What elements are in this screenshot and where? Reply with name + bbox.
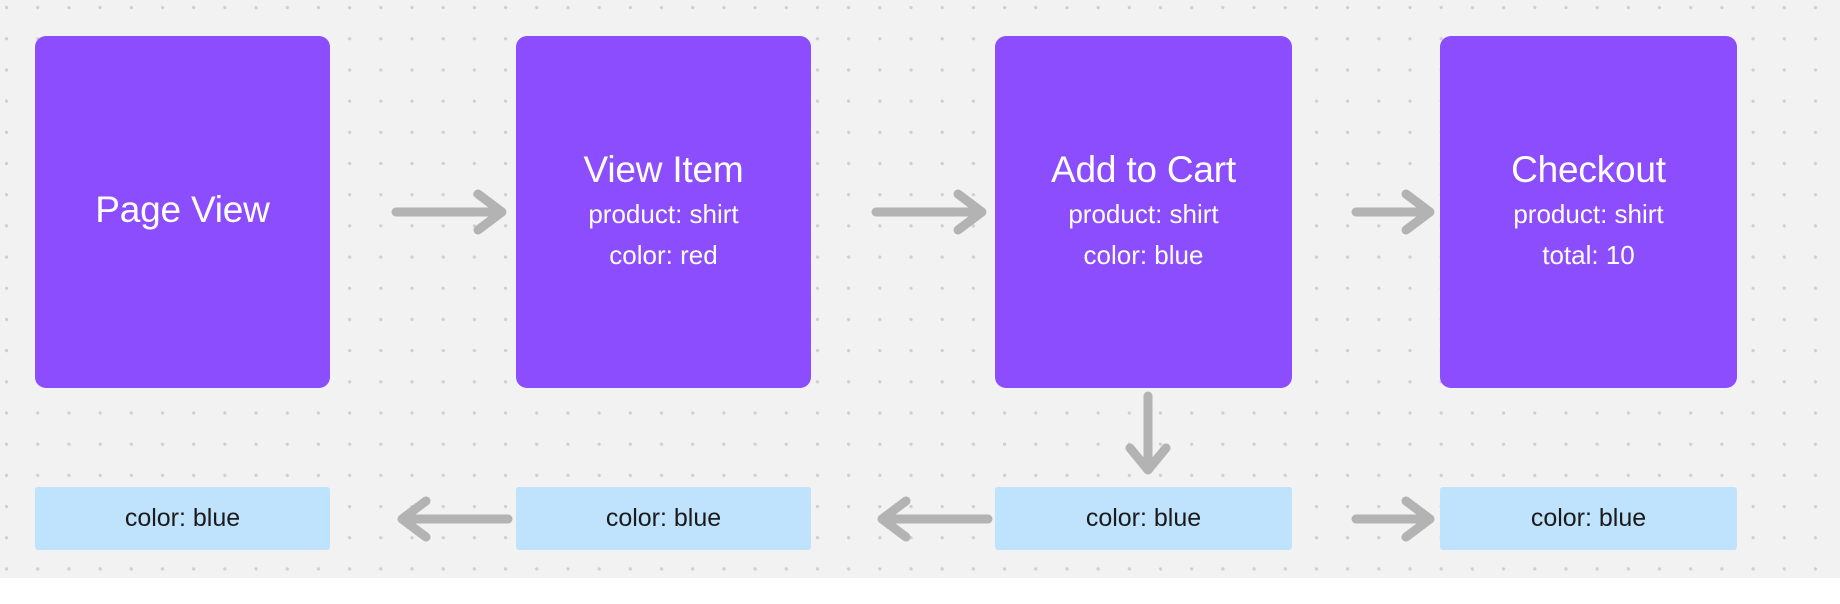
node-title: Checkout	[1511, 149, 1666, 190]
chip-label: color: blue	[125, 504, 240, 533]
chip-color-blue-3[interactable]: color: blue	[995, 487, 1292, 550]
node-property: product: shirt	[1513, 194, 1663, 234]
node-property: total: 10	[1542, 235, 1635, 275]
node-title: View Item	[584, 149, 744, 190]
bottom-strip	[0, 578, 1840, 604]
chip-label: color: blue	[606, 504, 721, 533]
node-properties: product: shirt color: red	[588, 194, 738, 275]
node-page-view[interactable]: Page View	[35, 36, 330, 388]
chip-color-blue-1[interactable]: color: blue	[35, 487, 330, 550]
flow-canvas[interactable]: Page View View Item product: shirt color…	[0, 0, 1840, 578]
node-title: Add to Cart	[1051, 149, 1236, 190]
chip-label: color: blue	[1086, 504, 1201, 533]
node-property: color: blue	[1084, 235, 1204, 275]
arrow-chip-2-to-chip-1[interactable]	[392, 497, 512, 541]
arrow-chip-3-to-chip-4[interactable]	[1352, 497, 1440, 541]
chip-color-blue-2[interactable]: color: blue	[516, 487, 811, 550]
node-add-to-cart[interactable]: Add to Cart product: shirt color: blue	[995, 36, 1292, 388]
node-properties: product: shirt color: blue	[1068, 194, 1218, 275]
node-title: Page View	[95, 189, 269, 230]
arrow-view-item-to-add-to-cart[interactable]	[872, 190, 992, 234]
node-property: color: red	[609, 235, 717, 275]
arrow-chip-3-to-chip-2[interactable]	[872, 497, 992, 541]
chip-label: color: blue	[1531, 504, 1646, 533]
node-properties: product: shirt total: 10	[1513, 194, 1663, 275]
chip-color-blue-4[interactable]: color: blue	[1440, 487, 1737, 550]
arrow-page-view-to-view-item[interactable]	[392, 190, 512, 234]
node-view-item[interactable]: View Item product: shirt color: red	[516, 36, 811, 388]
node-property: product: shirt	[1068, 194, 1218, 234]
arrow-add-to-cart-to-checkout[interactable]	[1352, 190, 1440, 234]
node-property: product: shirt	[588, 194, 738, 234]
node-checkout[interactable]: Checkout product: shirt total: 10	[1440, 36, 1737, 388]
arrow-add-to-cart-down-to-chip[interactable]	[1120, 392, 1176, 482]
